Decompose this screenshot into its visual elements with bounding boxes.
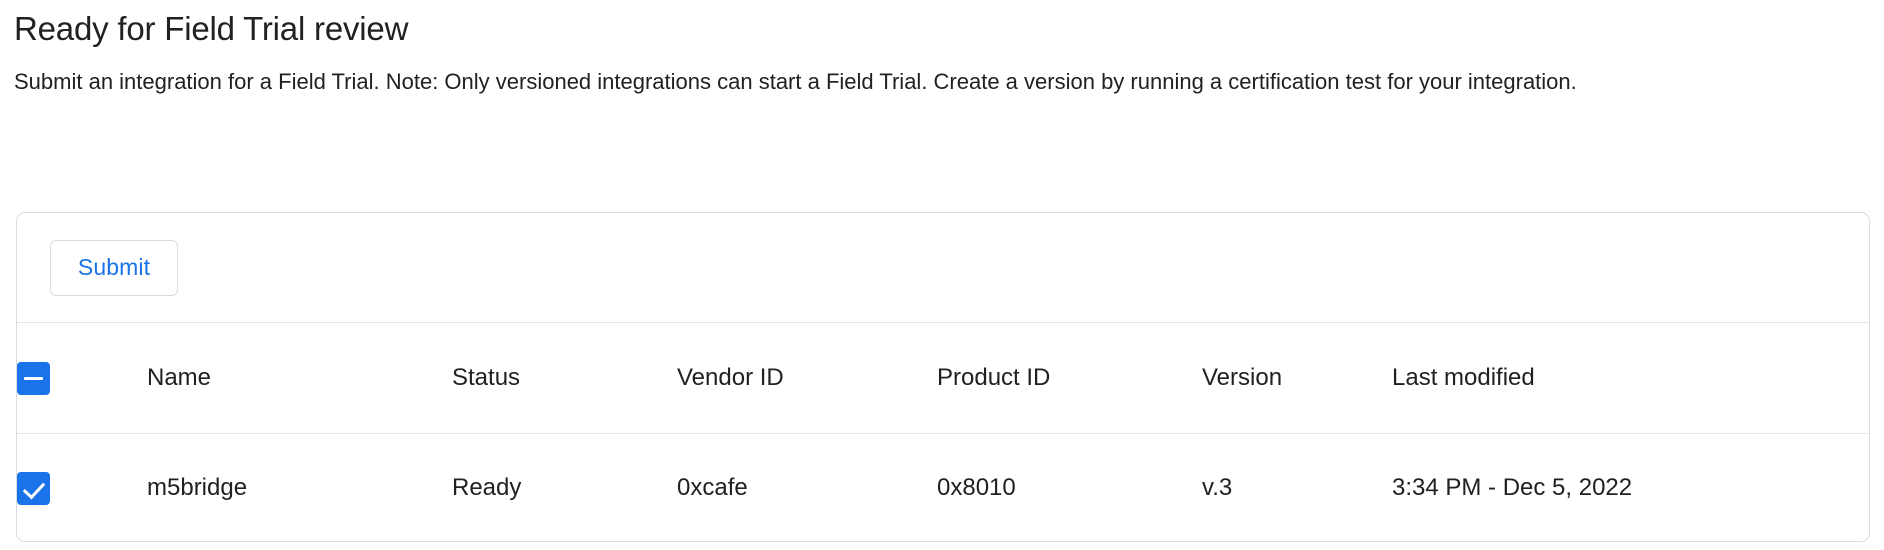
integrations-table: Name Status Vendor ID Product ID Version… <box>17 323 1869 542</box>
integrations-card: Submit Name Status Vendor ID <box>16 212 1870 542</box>
cell-version: v.3 <box>1202 434 1392 543</box>
table-toolbar: Submit <box>17 213 1869 323</box>
table-row[interactable]: m5bridge Ready 0xcafe 0x8010 v.3 3:34 PM… <box>17 434 1869 543</box>
checkbox-indeterminate-icon[interactable] <box>17 362 50 395</box>
table-header-row: Name Status Vendor ID Product ID Version… <box>17 323 1869 434</box>
checkbox-checked-icon[interactable] <box>17 472 50 505</box>
column-header-name[interactable]: Name <box>147 323 452 434</box>
cell-name: m5bridge <box>147 434 452 543</box>
select-all-cell <box>17 323 147 434</box>
column-header-version[interactable]: Version <box>1202 323 1392 434</box>
column-header-status[interactable]: Status <box>452 323 677 434</box>
page-title: Ready for Field Trial review <box>14 0 1870 50</box>
cell-status: Ready <box>452 434 677 543</box>
field-trial-review-page: Ready for Field Trial review Submit an i… <box>0 0 1884 550</box>
column-header-last-modified[interactable]: Last modified <box>1392 323 1869 434</box>
row-select-cell <box>17 434 147 543</box>
cell-last-modified: 3:34 PM - Dec 5, 2022 <box>1392 434 1869 543</box>
submit-button[interactable]: Submit <box>50 240 178 296</box>
column-header-product-id[interactable]: Product ID <box>937 323 1202 434</box>
column-header-vendor-id[interactable]: Vendor ID <box>677 323 937 434</box>
cell-vendor-id: 0xcafe <box>677 434 937 543</box>
cell-product-id: 0x8010 <box>937 434 1202 543</box>
page-description: Submit an integration for a Field Trial.… <box>14 50 1870 100</box>
